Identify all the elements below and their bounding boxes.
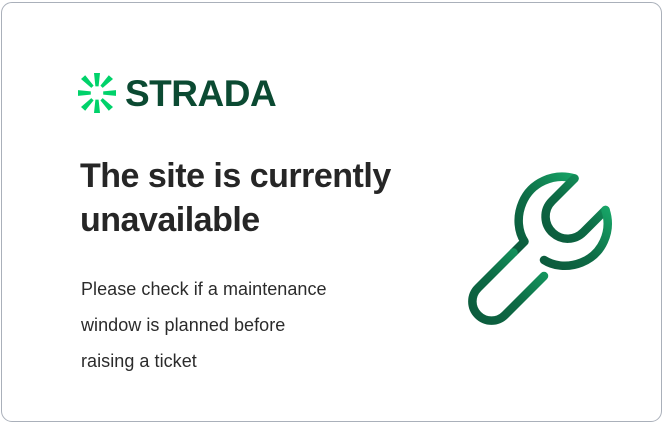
strada-asterisk-icon	[78, 73, 116, 113]
brand-wordmark: STRADA	[125, 75, 276, 112]
error-page: STRADA The site is currently unavailable…	[0, 0, 666, 436]
wrench-icon	[454, 155, 626, 327]
description-line: raising a ticket	[81, 343, 401, 379]
brand-logo: STRADA	[78, 73, 276, 113]
description-line: window is planned before	[81, 307, 401, 343]
description-line: Please check if a maintenance	[81, 271, 401, 307]
message-card: STRADA The site is currently unavailable…	[1, 2, 662, 422]
page-title: The site is currently unavailable	[80, 155, 420, 243]
page-description: Please check if a maintenance window is …	[81, 271, 401, 379]
